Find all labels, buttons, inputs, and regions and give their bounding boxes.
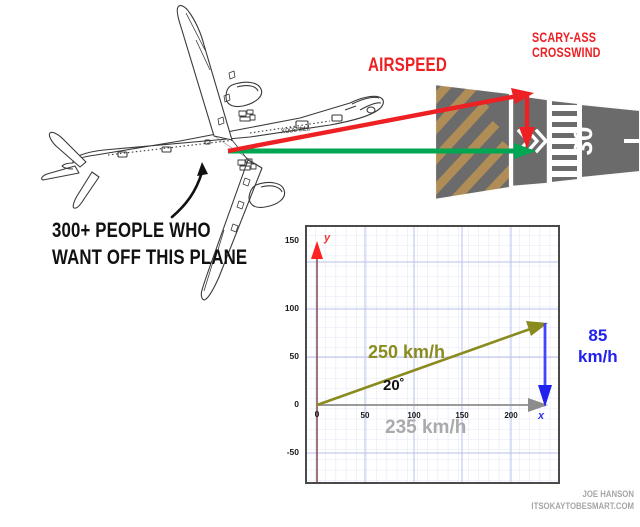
ground-track-arrow [228, 143, 536, 159]
y-tick-150: 150 [275, 235, 299, 245]
resultant-magnitude-label: 250 km/h [368, 342, 445, 363]
credit-block: JOE HANSON ITSOKAYTOBESMART.COM [449, 489, 634, 513]
x-axis-label: x [538, 410, 544, 422]
crosswind-arrow [519, 92, 535, 149]
x-tick-50: 50 [352, 411, 378, 420]
credit-author: JOE HANSON [482, 489, 634, 501]
credit-site: ITSOKAYTOBESMART.COM [482, 501, 634, 513]
y-tick-100: 100 [275, 303, 299, 313]
airspeed-label: AIRSPEED [368, 55, 447, 77]
passengers-label-line2: WANT OFF THIS PLANE [52, 244, 247, 271]
crosswind-magnitude-unit: km/h [578, 346, 618, 367]
y-tick-neg50: -50 [275, 447, 299, 457]
angle-label: 20˚ [383, 377, 405, 394]
passengers-label: 300+ PEOPLE WHO WANT OFF THIS PLANE [52, 217, 296, 271]
y-axis-label: y [324, 232, 330, 244]
y-tick-0: 0 [275, 399, 299, 409]
y-tick-50: 50 [275, 351, 299, 361]
x-tick-0: 0 [305, 409, 329, 419]
groundspeed-magnitude-label: 235 km/h [385, 417, 466, 439]
crosswind-label-line1: SCARY-ASS [532, 30, 601, 45]
crosswind-label: SCARY-ASS CROSSWIND [532, 30, 618, 60]
x-tick-200: 200 [498, 411, 524, 420]
crosswind-magnitude-label: 85 km/h [578, 325, 618, 367]
crosswind-label-line2: CROSSWIND [532, 45, 601, 60]
airspeed-arrow [228, 88, 534, 151]
infographic-canvas: 30 [0, 0, 640, 527]
crosswind-magnitude-value: 85 [578, 325, 618, 346]
passengers-label-line1: 300+ PEOPLE WHO [52, 217, 247, 244]
